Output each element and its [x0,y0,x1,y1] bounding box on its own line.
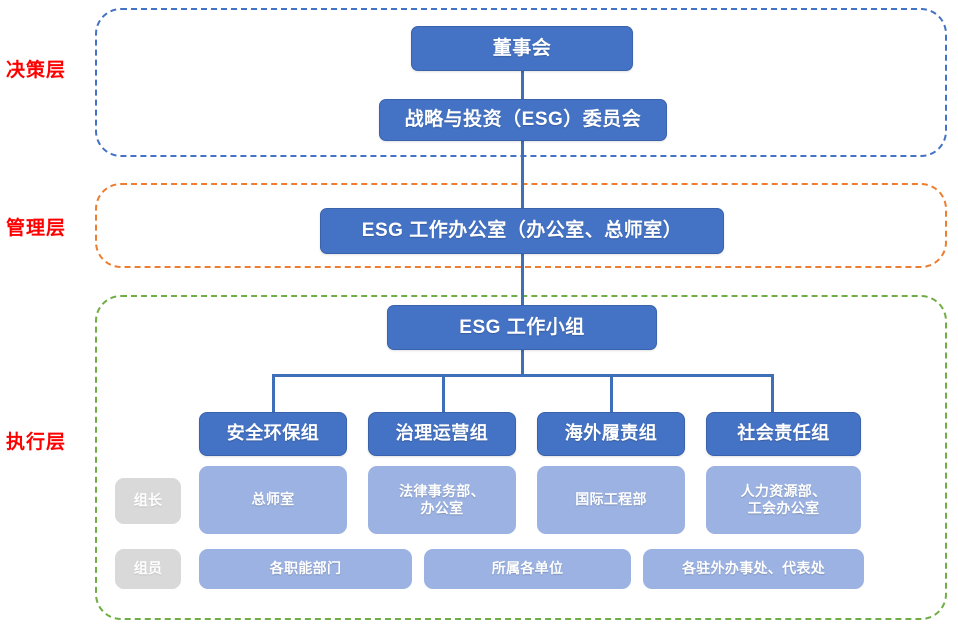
connector-workgroup-stem [521,348,524,376]
connector-drop-group-4 [771,374,774,412]
node-board-of-directors[interactable]: 董事会 [411,26,633,71]
connector-office-to-workgroup [521,252,524,306]
node-esg-working-office[interactable]: ESG 工作办公室（办公室、总师室） [320,208,724,254]
connector-drop-group-2 [442,374,445,412]
node-leader-group-1[interactable]: 总师室 [199,466,347,534]
node-leader-group-2[interactable]: 法律事务部、 办公室 [368,466,516,534]
row-label-member: 组员 [115,549,181,589]
node-leader-group-3[interactable]: 国际工程部 [537,466,685,534]
node-group-social-responsibility[interactable]: 社会责任组 [706,412,861,456]
connector-drop-group-1 [272,374,275,412]
node-esg-working-group[interactable]: ESG 工作小组 [387,305,657,350]
connector-group-bus [273,374,773,377]
org-chart-canvas: 决策层 管理层 执行层 董事会 战略与投资（ESG）委员会 ESG 工作办公室（… [0,0,958,625]
node-group-governance-operations[interactable]: 治理运营组 [368,412,516,456]
connector-committee-to-office [521,139,524,211]
connector-board-to-committee [521,70,524,100]
node-group-safety-environment[interactable]: 安全环保组 [199,412,347,456]
node-members-group-2[interactable]: 所属各单位 [424,549,631,589]
layer-label-execution: 执行层 [6,427,66,454]
node-strategy-investment-esg-committee[interactable]: 战略与投资（ESG）委员会 [379,99,667,141]
layer-label-management: 管理层 [6,213,66,240]
node-leader-group-4[interactable]: 人力资源部、 工会办公室 [706,466,861,534]
node-group-overseas-responsibility[interactable]: 海外履责组 [537,412,685,456]
row-label-leader: 组长 [115,478,181,524]
layer-label-decision: 决策层 [6,55,66,82]
node-members-group-1[interactable]: 各职能部门 [199,549,412,589]
node-members-group-3[interactable]: 各驻外办事处、代表处 [643,549,864,589]
connector-drop-group-3 [610,374,613,412]
